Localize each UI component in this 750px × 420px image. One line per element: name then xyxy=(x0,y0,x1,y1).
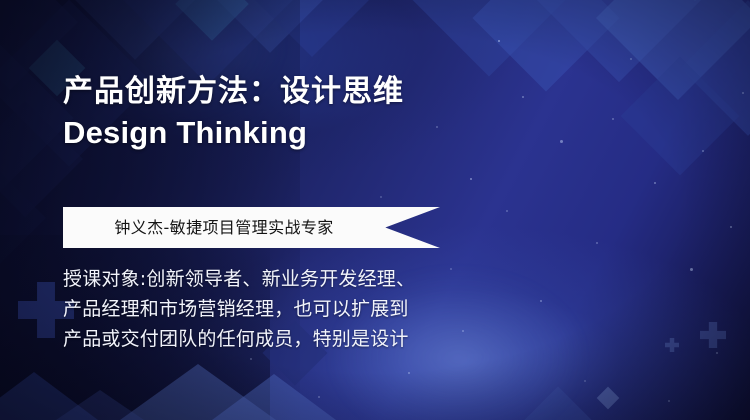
presentation-slide: 产品创新方法：设计思维 Design Thinking 钟义杰-敏捷项目管理实战… xyxy=(0,0,750,420)
title-block: 产品创新方法：设计思维 Design Thinking xyxy=(63,72,683,154)
page-title-chinese: 产品创新方法：设计思维 xyxy=(63,72,683,112)
speaker-ribbon-label: 钟义杰-敏捷项目管理实战专家 xyxy=(63,207,385,248)
page-title-english: Design Thinking xyxy=(63,112,683,154)
audience-description: 授课对象:创新领导者、新业务开发经理、产品经理和市场营销经理，也可以扩展到产品或… xyxy=(63,264,423,354)
slide-content: 产品创新方法：设计思维 Design Thinking 钟义杰-敏捷项目管理实战… xyxy=(63,0,703,420)
